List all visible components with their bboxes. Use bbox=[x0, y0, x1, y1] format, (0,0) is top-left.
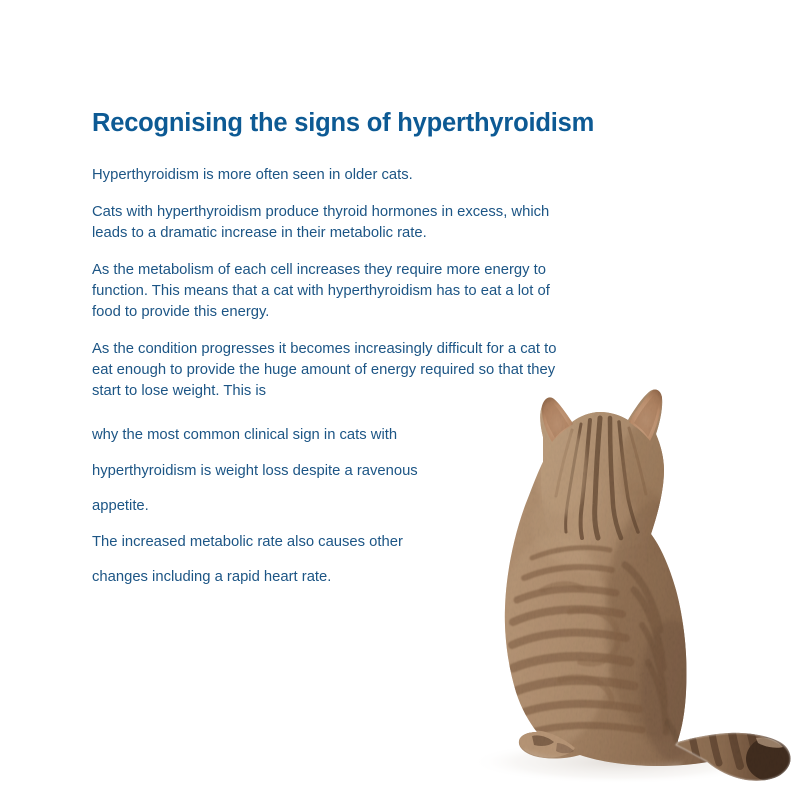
paragraph-3-line-3: food to provide this energy. bbox=[92, 302, 592, 323]
paragraph-5-line-1: why the most common clinical sign in cat… bbox=[92, 418, 452, 454]
paragraph-6: The increased metabolic rate also causes… bbox=[92, 525, 452, 596]
paragraph-4-line-3: start to lose weight. This is bbox=[92, 381, 592, 402]
paragraph-3: As the metabolism of each cell increases… bbox=[92, 260, 592, 323]
paragraph-3-line-2: function. This means that a cat with hyp… bbox=[92, 281, 592, 302]
paragraph-2: Cats with hyperthyroidism produce thyroi… bbox=[92, 202, 592, 244]
paragraph-4-line-1: As the condition progresses it becomes i… bbox=[92, 339, 592, 360]
paragraph-5-line-2: hyperthyroidism is weight loss despite a… bbox=[92, 454, 452, 490]
cat-ground-shadow bbox=[470, 740, 770, 784]
article-content: Recognising the signs of hyperthyroidism… bbox=[92, 108, 604, 596]
paragraph-4: As the condition progresses it becomes i… bbox=[92, 339, 592, 402]
paragraph-5: why the most common clinical sign in cat… bbox=[92, 418, 452, 525]
paragraph-3-line-1: As the metabolism of each cell increases… bbox=[92, 260, 592, 281]
paragraph-6-line-2: changes including a rapid heart rate. bbox=[92, 560, 452, 596]
paragraph-2-line-1: Cats with hyperthyroidism produce thyroi… bbox=[92, 202, 592, 223]
paragraph-4-line-2: eat enough to provide the huge amount of… bbox=[92, 360, 592, 381]
paragraph-6-line-1: The increased metabolic rate also causes… bbox=[92, 525, 452, 561]
cat-ear-right bbox=[629, 389, 662, 441]
cat-tail bbox=[660, 720, 794, 790]
paragraph-2-line-2: leads to a dramatic increase in their me… bbox=[92, 223, 592, 244]
page-title: Recognising the signs of hyperthyroidism bbox=[92, 108, 604, 138]
paragraph-1: Hyperthyroidism is more often seen in ol… bbox=[92, 165, 592, 186]
document-page: Recognising the signs of hyperthyroidism… bbox=[0, 0, 794, 794]
cat-hind-paw bbox=[519, 730, 575, 757]
paragraph-1-line-1: Hyperthyroidism is more often seen in ol… bbox=[92, 165, 592, 186]
paragraph-5-line-3: appetite. bbox=[92, 489, 452, 525]
